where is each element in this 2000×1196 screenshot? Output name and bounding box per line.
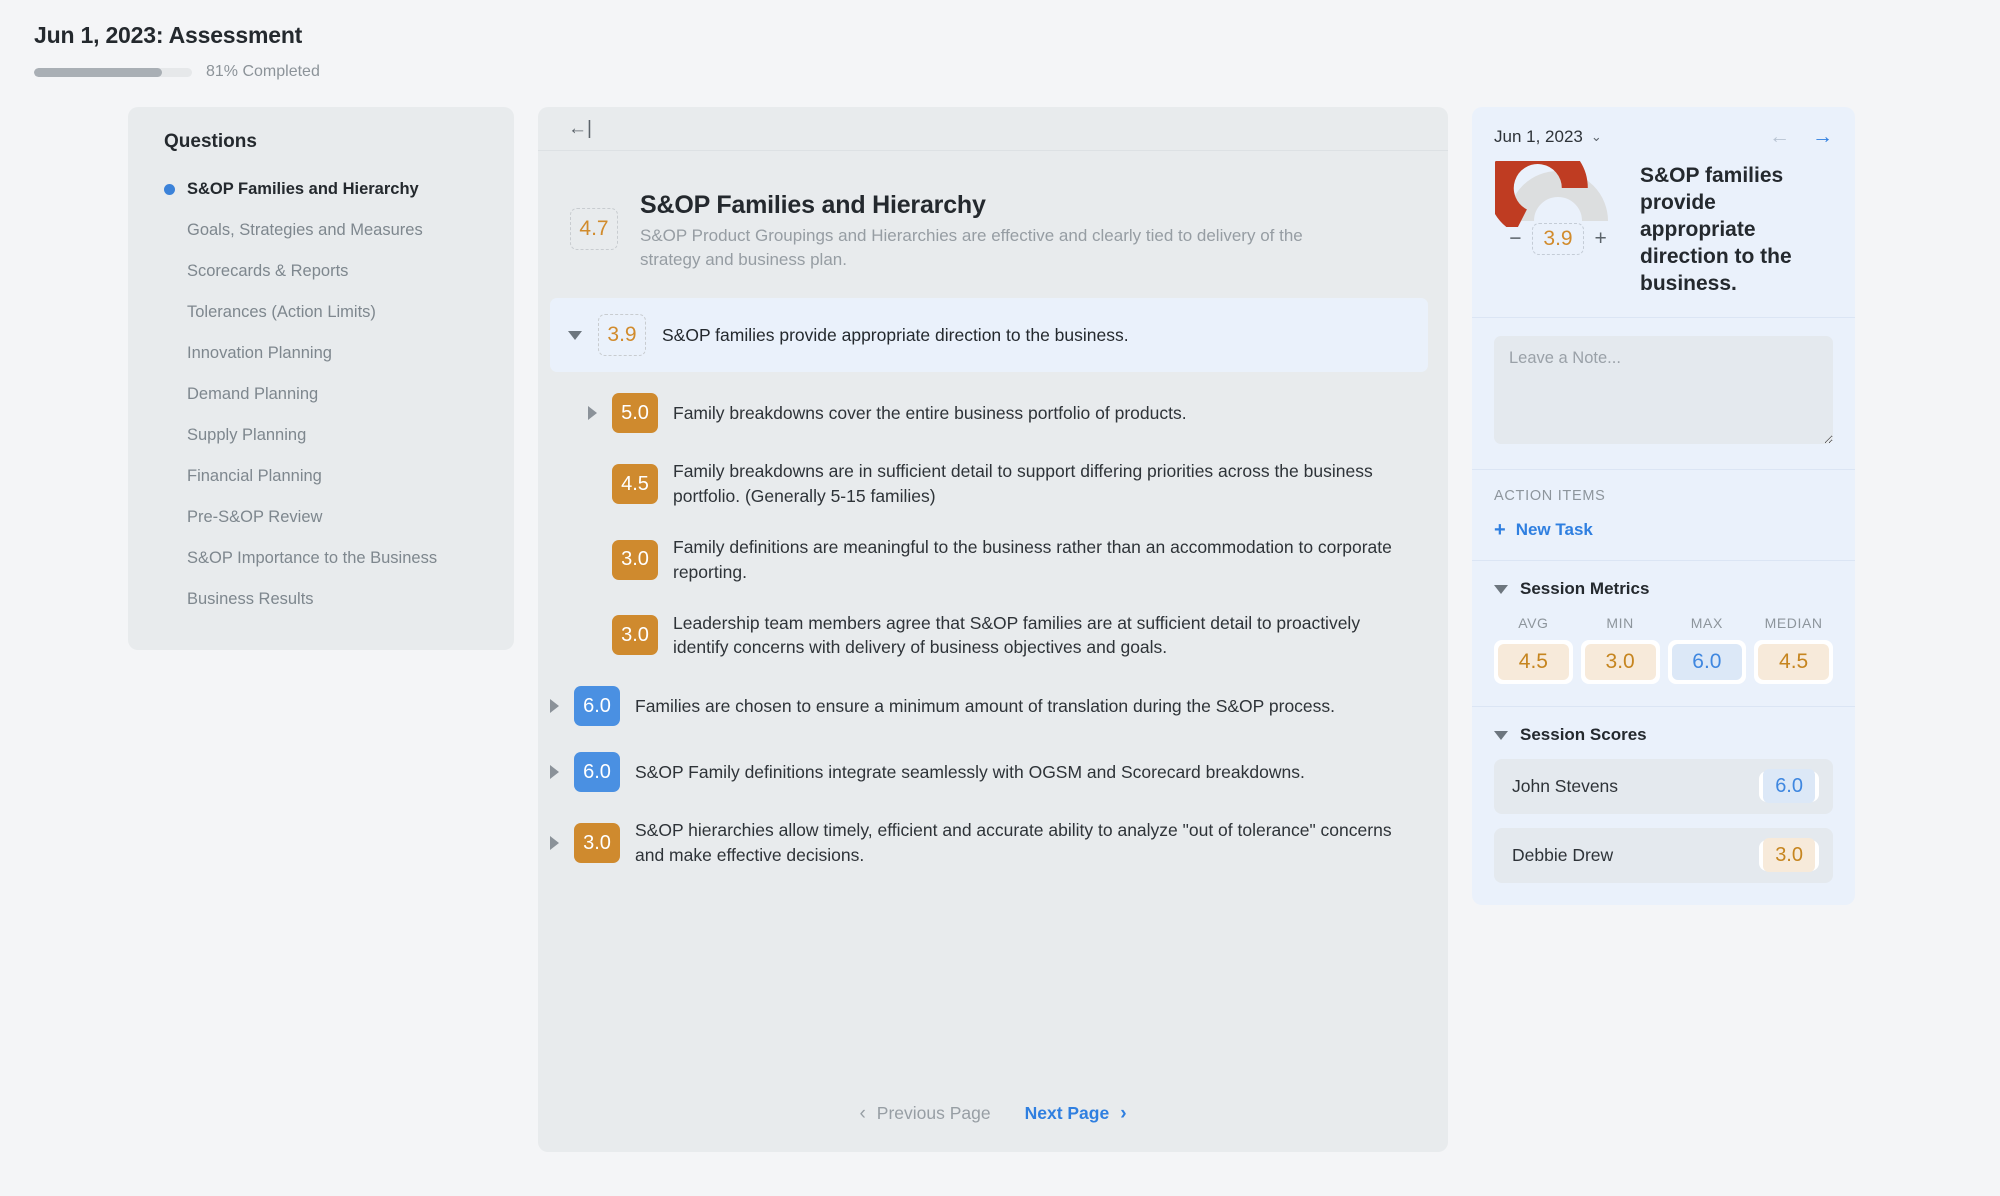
score-gauge bbox=[1495, 161, 1621, 227]
nav-spacer bbox=[164, 594, 175, 605]
session-metric-value: 4.5 bbox=[1758, 644, 1829, 680]
sidebar-item-label: S&OP Importance to the Business bbox=[187, 549, 437, 568]
sub-question-row[interactable]: 4.5Family breakdowns are in sufficient d… bbox=[550, 446, 1408, 522]
sidebar-item-label: Pre-S&OP Review bbox=[187, 508, 322, 527]
sidebar-item-9[interactable]: S&OP Importance to the Business bbox=[128, 538, 514, 579]
decrement-score-button[interactable]: − bbox=[1506, 227, 1524, 251]
session-metric-label: MAX bbox=[1668, 615, 1747, 631]
section-description: S&OP Product Groupings and Hierarchies a… bbox=[640, 224, 1340, 272]
new-task-label: New Task bbox=[1516, 520, 1593, 540]
page-header: Jun 1, 2023: Assessment 81% Completed bbox=[0, 0, 2000, 81]
sidebar-item-label: Scorecards & Reports bbox=[187, 262, 348, 281]
next-page-label: Next Page bbox=[1025, 1103, 1110, 1124]
gauge-block: − 3.9 + S&OP families provide appropriat… bbox=[1494, 161, 1833, 297]
session-metric-chip: 3.0 bbox=[1581, 640, 1660, 684]
session-score-row[interactable]: John Stevens6.0 bbox=[1494, 759, 1833, 814]
session-metrics-toggle[interactable]: Session Metrics bbox=[1494, 579, 1833, 599]
sub-question-score-badge[interactable]: 6.0 bbox=[574, 752, 620, 792]
sub-question-text: S&OP Family definitions integrate seamle… bbox=[635, 760, 1305, 785]
previous-page-button[interactable]: ‹ Previous Page bbox=[859, 1103, 990, 1124]
session-metrics-section: Session Metrics AVG4.5MIN3.0MAX6.0MEDIAN… bbox=[1472, 561, 1855, 707]
arrow-right-icon[interactable]: → bbox=[1812, 125, 1833, 149]
progress-row: 81% Completed bbox=[34, 63, 2000, 81]
sub-question-row[interactable]: 6.0Families are chosen to ensure a minim… bbox=[550, 673, 1408, 739]
sidebar-item-label: Business Results bbox=[187, 590, 314, 609]
questions-sidebar: Questions S&OP Families and HierarchyGoa… bbox=[128, 107, 514, 650]
sidebar-item-1[interactable]: Goals, Strategies and Measures bbox=[128, 210, 514, 251]
detail-header: Jun 1, 2023 ⌄ ← → − 3.9 bbox=[1472, 107, 1855, 318]
session-scores-section: Session Scores John Stevens6.0Debbie Dre… bbox=[1472, 707, 1855, 905]
session-score-chip: 3.0 bbox=[1759, 840, 1819, 871]
pagination: ‹ Previous Page Next Page › bbox=[538, 1069, 1448, 1152]
session-scores-list: John Stevens6.0Debbie Drew3.0 bbox=[1494, 759, 1833, 883]
chevron-down-icon: ⌄ bbox=[1591, 129, 1602, 145]
session-metrics-title: Session Metrics bbox=[1520, 579, 1649, 599]
sidebar-item-3[interactable]: Tolerances (Action Limits) bbox=[128, 292, 514, 333]
assessment-panel: ←| 4.7 S&OP Families and Hierarchy S&OP … bbox=[538, 107, 1448, 1152]
nav-spacer bbox=[164, 307, 175, 318]
question-text: S&OP families provide appropriate direct… bbox=[662, 323, 1129, 348]
sub-question-score-badge[interactable]: 3.0 bbox=[574, 823, 620, 863]
sidebar-item-label: Supply Planning bbox=[187, 426, 306, 445]
nav-spacer bbox=[164, 471, 175, 482]
sidebar-item-label: Goals, Strategies and Measures bbox=[187, 221, 423, 240]
previous-page-label: Previous Page bbox=[877, 1103, 991, 1124]
sidebar-item-5[interactable]: Demand Planning bbox=[128, 374, 514, 415]
sidebar-item-label: Innovation Planning bbox=[187, 344, 332, 363]
note-section bbox=[1472, 318, 1855, 470]
session-metric-chip: 4.5 bbox=[1494, 640, 1573, 684]
session-metric-chip: 6.0 bbox=[1668, 640, 1747, 684]
chevron-down-icon bbox=[1494, 585, 1508, 594]
score-stepper: − 3.9 + bbox=[1494, 223, 1622, 255]
session-date-dropdown[interactable]: Jun 1, 2023 ⌄ bbox=[1494, 127, 1602, 147]
sub-question-text: Family definitions are meaningful to the… bbox=[673, 535, 1408, 585]
sub-question-row[interactable]: 6.0S&OP Family definitions integrate sea… bbox=[550, 739, 1408, 805]
nav-spacer bbox=[164, 430, 175, 441]
sub-question-row[interactable]: 3.0Leadership team members agree that S&… bbox=[550, 598, 1408, 674]
sub-question-score-badge[interactable]: 4.5 bbox=[612, 464, 658, 504]
sub-question-text: Family breakdowns cover the entire busin… bbox=[673, 401, 1187, 426]
sidebar-nav-list: S&OP Families and HierarchyGoals, Strate… bbox=[128, 169, 514, 620]
section-score-input[interactable]: 4.7 bbox=[570, 208, 618, 250]
sub-question-text: S&OP hierarchies allow timely, efficient… bbox=[635, 818, 1408, 868]
sub-question-score-badge[interactable]: 6.0 bbox=[574, 686, 620, 726]
sub-question-row[interactable]: 5.0Family breakdowns cover the entire bu… bbox=[550, 380, 1408, 446]
sidebar-item-10[interactable]: Business Results bbox=[128, 579, 514, 620]
sidebar-item-label: Financial Planning bbox=[187, 467, 322, 486]
progress-bar bbox=[34, 68, 192, 77]
arrow-left-icon[interactable]: ← bbox=[1769, 125, 1790, 149]
session-metrics-list: AVG4.5MIN3.0MAX6.0MEDIAN4.5 bbox=[1494, 615, 1833, 684]
session-nav-arrows: ← → bbox=[1769, 125, 1833, 149]
chevron-right-icon[interactable] bbox=[588, 406, 597, 420]
action-items-section: ACTION ITEMS + New Task bbox=[1472, 470, 1855, 561]
session-date-label: Jun 1, 2023 bbox=[1494, 127, 1583, 147]
nav-spacer bbox=[164, 348, 175, 359]
chevron-down-icon bbox=[1494, 731, 1508, 740]
sub-question-row[interactable]: 3.0Family definitions are meaningful to … bbox=[550, 522, 1408, 598]
plus-icon: + bbox=[1494, 520, 1506, 540]
progress-fill bbox=[34, 68, 162, 77]
session-metric-value: 6.0 bbox=[1672, 644, 1743, 680]
page-title: Jun 1, 2023: Assessment bbox=[34, 22, 2000, 49]
sidebar-item-label: Demand Planning bbox=[187, 385, 318, 404]
nav-spacer bbox=[164, 266, 175, 277]
section-title: S&OP Families and Hierarchy bbox=[640, 191, 1340, 220]
nav-spacer bbox=[164, 389, 175, 400]
note-input[interactable] bbox=[1494, 336, 1833, 444]
sub-question-list: 5.0Family breakdowns cover the entire bu… bbox=[538, 372, 1448, 881]
sidebar-item-label: S&OP Families and Hierarchy bbox=[187, 180, 419, 199]
sidebar-item-0[interactable]: S&OP Families and Hierarchy bbox=[128, 169, 514, 210]
chevron-right-icon[interactable] bbox=[550, 699, 559, 713]
sidebar-item-label: Tolerances (Action Limits) bbox=[187, 303, 376, 322]
session-scores-title: Session Scores bbox=[1520, 725, 1647, 745]
session-score-name: Debbie Drew bbox=[1512, 845, 1613, 866]
sub-question-text: Leadership team members agree that S&OP … bbox=[673, 611, 1408, 661]
nav-spacer bbox=[164, 553, 175, 564]
session-score-name: John Stevens bbox=[1512, 776, 1618, 797]
main-layout: Questions S&OP Families and HierarchyGoa… bbox=[0, 81, 2000, 1152]
session-metric: MEDIAN4.5 bbox=[1754, 615, 1833, 684]
chevron-right-icon[interactable] bbox=[550, 836, 559, 850]
session-metric-label: MIN bbox=[1581, 615, 1660, 631]
question-score-input[interactable]: 3.9 bbox=[598, 314, 646, 356]
section-header: 4.7 S&OP Families and Hierarchy S&OP Pro… bbox=[538, 151, 1448, 272]
increment-score-button[interactable]: + bbox=[1592, 227, 1610, 251]
detail-question-title: S&OP families provide appropriate direct… bbox=[1640, 161, 1833, 297]
sub-question-row[interactable]: 3.0S&OP hierarchies allow timely, effici… bbox=[550, 805, 1408, 881]
session-metric-value: 4.5 bbox=[1498, 644, 1569, 680]
nav-spacer bbox=[164, 225, 175, 236]
sub-question-text: Family breakdowns are in sufficient deta… bbox=[673, 459, 1408, 509]
progress-label: 81% Completed bbox=[206, 63, 320, 81]
active-question-row[interactable]: 3.9 S&OP families provide appropriate di… bbox=[550, 298, 1428, 372]
session-scores-toggle[interactable]: Session Scores bbox=[1494, 725, 1833, 745]
detail-sidebar: Jun 1, 2023 ⌄ ← → − 3.9 bbox=[1472, 107, 1855, 905]
session-metric: MAX6.0 bbox=[1668, 615, 1747, 684]
sidebar-item-7[interactable]: Financial Planning bbox=[128, 456, 514, 497]
sub-question-score-badge[interactable]: 3.0 bbox=[612, 615, 658, 655]
session-date-row: Jun 1, 2023 ⌄ ← → bbox=[1494, 125, 1833, 149]
sub-question-score-badge[interactable]: 3.0 bbox=[612, 540, 658, 580]
active-dot-icon bbox=[164, 184, 175, 195]
session-score-row[interactable]: Debbie Drew3.0 bbox=[1494, 828, 1833, 883]
next-page-button[interactable]: Next Page › bbox=[1025, 1103, 1127, 1124]
session-metric-value: 3.0 bbox=[1585, 644, 1656, 680]
gauge-column: − 3.9 + bbox=[1494, 161, 1622, 255]
sub-question-text: Families are chosen to ensure a minimum … bbox=[635, 694, 1335, 719]
sidebar-item-8[interactable]: Pre-S&OP Review bbox=[128, 497, 514, 538]
session-metric: AVG4.5 bbox=[1494, 615, 1573, 684]
collapse-panel-icon[interactable]: ←| bbox=[568, 119, 592, 138]
session-metric: MIN3.0 bbox=[1581, 615, 1660, 684]
panel-toolbar: ←| bbox=[538, 107, 1448, 151]
sidebar-title: Questions bbox=[128, 131, 514, 169]
session-score-chip: 6.0 bbox=[1759, 771, 1819, 802]
session-score-value: 3.0 bbox=[1763, 838, 1815, 872]
chevron-right-icon[interactable] bbox=[550, 765, 559, 779]
sidebar-item-4[interactable]: Innovation Planning bbox=[128, 333, 514, 374]
session-score-value: 6.0 bbox=[1763, 769, 1815, 803]
action-items-label: ACTION ITEMS bbox=[1494, 488, 1833, 504]
session-metric-label: AVG bbox=[1494, 615, 1573, 631]
sub-question-score-badge[interactable]: 5.0 bbox=[612, 393, 658, 433]
new-task-button[interactable]: + New Task bbox=[1494, 520, 1833, 540]
sidebar-item-2[interactable]: Scorecards & Reports bbox=[128, 251, 514, 292]
score-value-input[interactable]: 3.9 bbox=[1532, 223, 1583, 255]
session-metric-chip: 4.5 bbox=[1754, 640, 1833, 684]
nav-spacer bbox=[164, 512, 175, 523]
chevron-down-icon[interactable] bbox=[568, 331, 582, 340]
sidebar-item-6[interactable]: Supply Planning bbox=[128, 415, 514, 456]
session-metric-label: MEDIAN bbox=[1754, 615, 1833, 631]
chevron-right-icon: › bbox=[1120, 1104, 1126, 1123]
chevron-left-icon: ‹ bbox=[859, 1104, 865, 1123]
